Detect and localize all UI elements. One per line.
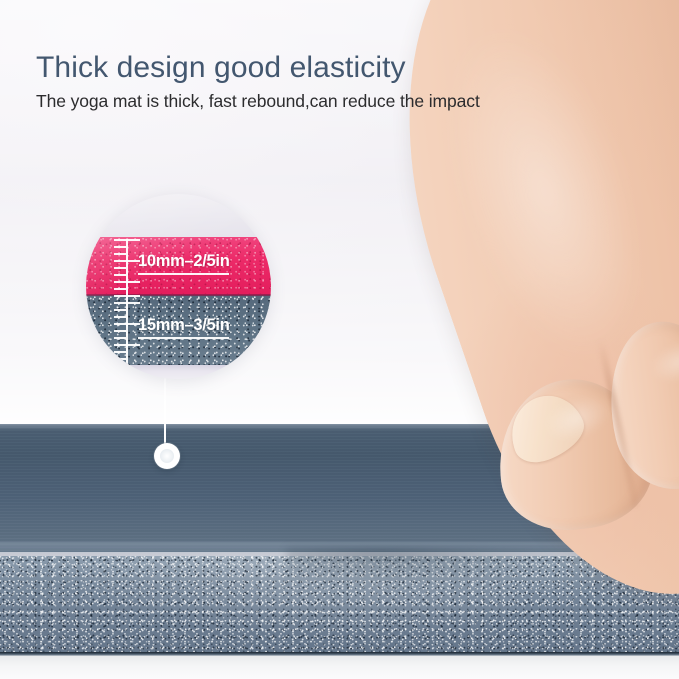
ruler-tick <box>114 316 126 318</box>
ruler-tick <box>114 274 126 276</box>
ruler-tick <box>114 330 126 332</box>
ruler-tick <box>114 344 140 346</box>
label-underline <box>138 273 229 275</box>
thickness-callout-circle: 10mm–2/5in 15mm–3/5in <box>86 194 271 379</box>
blue-layer-thickness-text: 15mm–3/5in <box>138 316 229 334</box>
page-title: Thick design good elasticity <box>36 51 406 85</box>
ruler-tick <box>114 295 140 297</box>
callout-anchor-dot <box>154 443 180 469</box>
ruler-tick <box>114 260 140 262</box>
ruler-tick <box>114 267 126 269</box>
product-feature-image: 10mm–2/5in 15mm–3/5in Thick design good … <box>0 0 679 679</box>
ruler-tick <box>114 323 140 325</box>
mat-compression-dent <box>286 548 586 588</box>
ruler-tick <box>114 309 126 311</box>
floor-surface <box>0 656 679 679</box>
callout-connector-line <box>164 378 166 444</box>
callout-floor <box>86 365 271 379</box>
blue-layer-thickness-label: 15mm–3/5in <box>138 316 229 339</box>
ruler-tick <box>114 302 140 304</box>
ruler-tick <box>114 288 126 290</box>
label-underline <box>138 337 229 339</box>
ruler-tick <box>114 281 140 283</box>
ruler-tick <box>114 253 126 255</box>
page-subtitle: The yoga mat is thick, fast rebound,can … <box>36 91 480 112</box>
pink-layer-thickness-label: 10mm–2/5in <box>138 252 229 275</box>
pink-layer-thickness-text: 10mm–2/5in <box>138 252 229 270</box>
ruler-tick <box>114 337 126 339</box>
ruler-tick <box>114 239 140 241</box>
ruler-tick <box>114 351 126 353</box>
callout-background <box>86 194 271 237</box>
ruler-tick <box>114 246 126 248</box>
ruler-tick <box>114 358 126 360</box>
